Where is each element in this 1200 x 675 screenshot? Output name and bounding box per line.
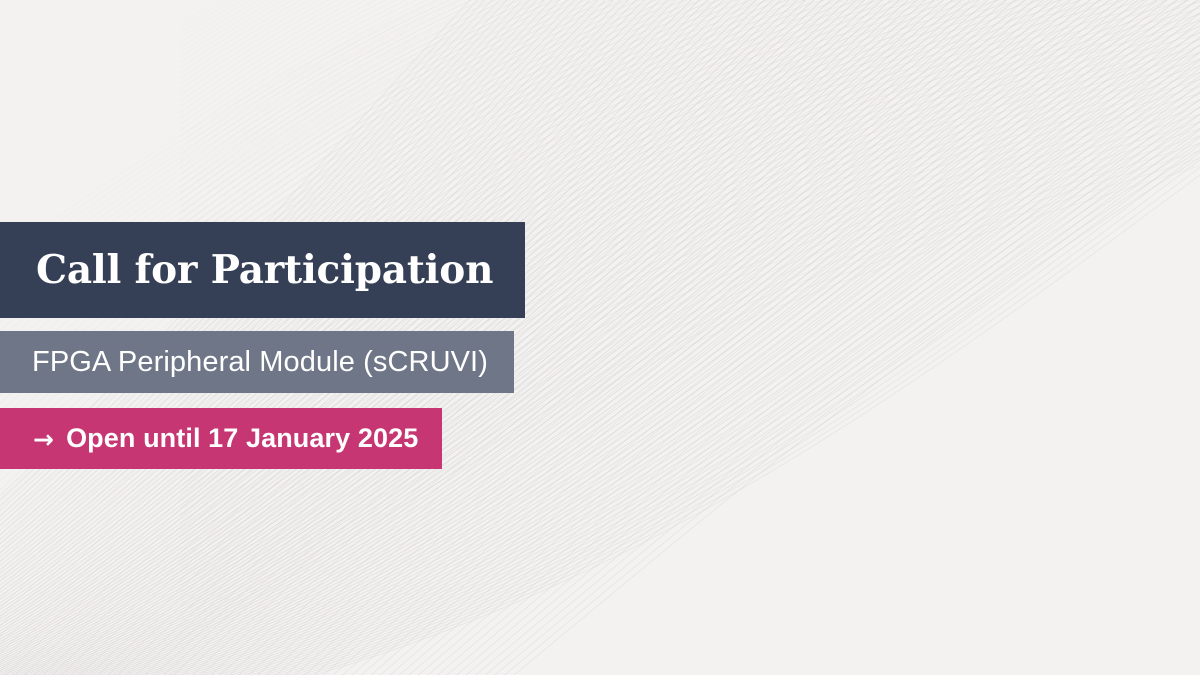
banner-deadline-bar[interactable]: → Open until 17 January 2025 [0, 408, 442, 469]
banner-text-stack: Call for Participation FPGA Peripheral M… [0, 222, 525, 469]
banner-subtitle: FPGA Peripheral Module (sCRUVI) [32, 346, 488, 379]
banner-title-bar: Call for Participation [0, 222, 525, 318]
arrow-right-icon: → [33, 427, 54, 452]
deadline-label: Open until 17 January 2025 [66, 423, 418, 454]
banner-subtitle-bar: FPGA Peripheral Module (sCRUVI) [0, 331, 514, 393]
call-for-participation-banner: Call for Participation FPGA Peripheral M… [0, 0, 1200, 675]
page-title: Call for Participation [36, 247, 493, 293]
